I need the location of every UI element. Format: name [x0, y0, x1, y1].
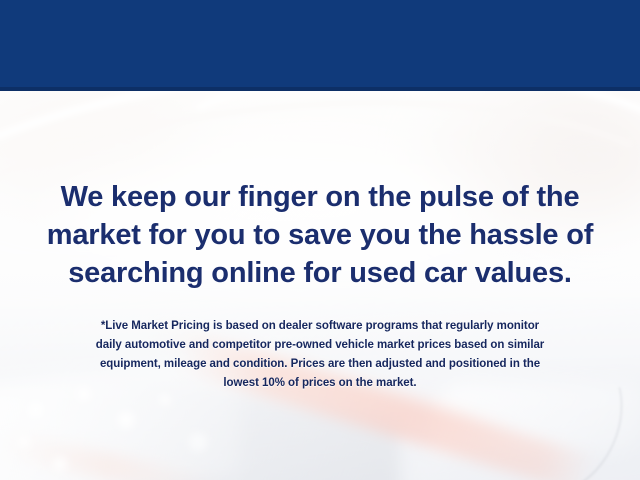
disclaimer-line: daily automotive and competitor pre-owne… — [0, 336, 640, 355]
headline-line: market for you to save you the hassle of — [0, 216, 640, 254]
disclaimer-text: *Live Market Pricing is based on dealer … — [0, 317, 640, 393]
live-market-pricing-banner: Live Market Pricing* We keep our finger … — [0, 0, 640, 480]
headline-line: searching online for used car values. — [0, 254, 640, 292]
disclaimer-line: *Live Market Pricing is based on dealer … — [0, 317, 640, 336]
header-band-shadow — [0, 87, 640, 91]
header-band — [0, 0, 640, 91]
disclaimer-line: equipment, mileage and condition. Prices… — [0, 355, 640, 374]
headline-copy: We keep our finger on the pulse of the m… — [0, 178, 640, 292]
disclaimer-line: lowest 10% of prices on the market. — [0, 374, 640, 393]
headline-line: We keep our finger on the pulse of the — [0, 178, 640, 216]
